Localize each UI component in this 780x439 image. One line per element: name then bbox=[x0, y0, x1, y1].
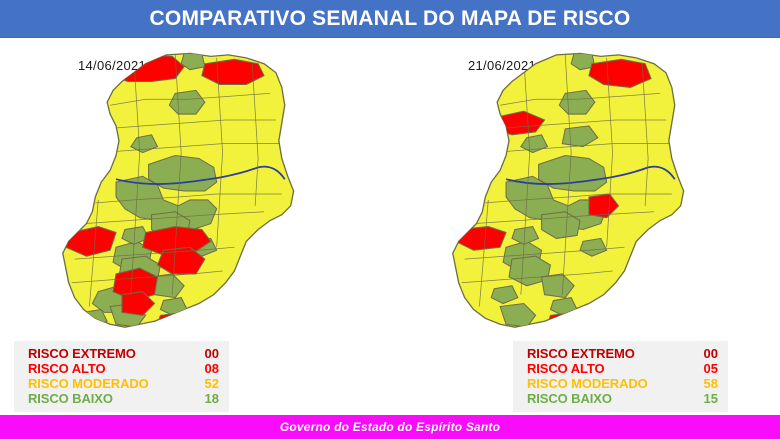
legend-value-moderado: 58 bbox=[704, 376, 718, 391]
legend-value-extremo: 00 bbox=[704, 346, 718, 361]
legend-label-baixo: RISCO BAIXO bbox=[527, 391, 612, 406]
map-image-right[interactable] bbox=[418, 46, 748, 342]
map-panel-right: 21/06/2021 bbox=[390, 38, 780, 415]
footer-bar: Governo do Estado do Espírito Santo bbox=[0, 415, 780, 439]
risk-legend-right: RISCO EXTREMO 00 RISCO ALTO 05 RISCO MOD… bbox=[513, 341, 728, 412]
legend-label-baixo: RISCO BAIXO bbox=[28, 391, 113, 406]
legend-row-alto: RISCO ALTO 05 bbox=[527, 361, 718, 376]
legend-label-extremo: RISCO EXTREMO bbox=[527, 346, 635, 361]
legend-row-moderado: RISCO MODERADO 58 bbox=[527, 376, 718, 391]
legend-label-moderado: RISCO MODERADO bbox=[527, 376, 648, 391]
legend-label-extremo: RISCO EXTREMO bbox=[28, 346, 136, 361]
legend-row-extremo: RISCO EXTREMO 00 bbox=[28, 346, 219, 361]
legend-label-moderado: RISCO MODERADO bbox=[28, 376, 149, 391]
legend-value-baixo: 18 bbox=[205, 391, 219, 406]
comparison-content: 14/06/2021 bbox=[0, 38, 780, 415]
risk-legend-left: RISCO EXTREMO 00 RISCO ALTO 08 RISCO MOD… bbox=[14, 341, 229, 412]
legend-row-baixo: RISCO BAIXO 15 bbox=[527, 391, 718, 406]
legend-row-alto: RISCO ALTO 08 bbox=[28, 361, 219, 376]
legend-label-alto: RISCO ALTO bbox=[28, 361, 105, 376]
legend-value-baixo: 15 bbox=[704, 391, 718, 406]
legend-label-alto: RISCO ALTO bbox=[527, 361, 604, 376]
legend-row-moderado: RISCO MODERADO 52 bbox=[28, 376, 219, 391]
legend-value-moderado: 52 bbox=[205, 376, 219, 391]
footer-text: Governo do Estado do Espírito Santo bbox=[280, 420, 500, 434]
legend-value-extremo: 00 bbox=[205, 346, 219, 361]
map-panel-left: 14/06/2021 bbox=[0, 38, 390, 415]
page-title: COMPARATIVO SEMANAL DO MAPA DE RISCO bbox=[150, 7, 631, 31]
legend-value-alto: 05 bbox=[704, 361, 718, 376]
legend-value-alto: 08 bbox=[205, 361, 219, 376]
legend-row-baixo: RISCO BAIXO 18 bbox=[28, 391, 219, 406]
page-title-bar: COMPARATIVO SEMANAL DO MAPA DE RISCO bbox=[0, 0, 780, 38]
map-image-left[interactable] bbox=[28, 46, 358, 342]
legend-row-extremo: RISCO EXTREMO 00 bbox=[527, 346, 718, 361]
